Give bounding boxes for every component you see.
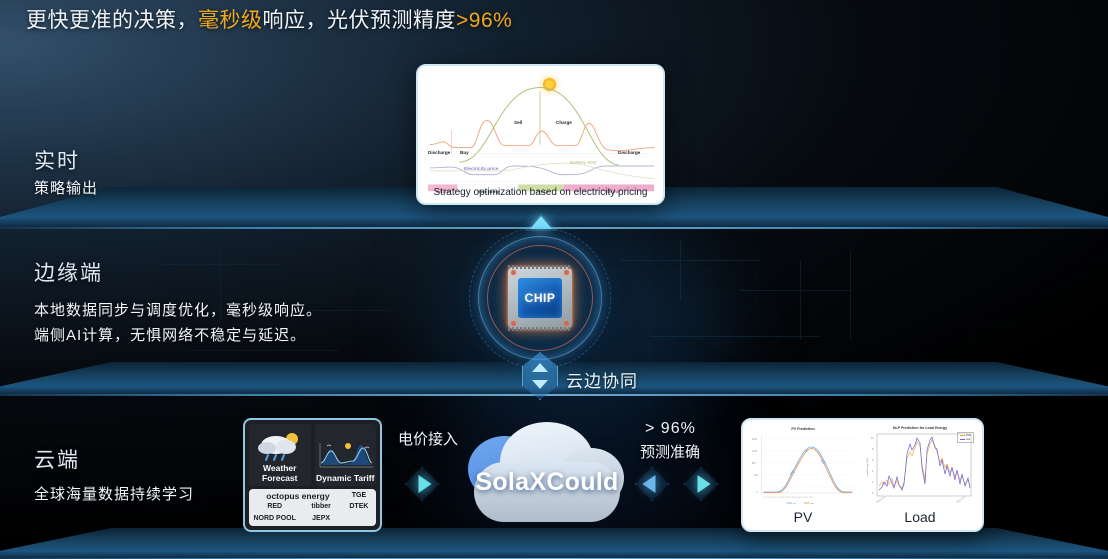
load-chart-name: Load [863, 509, 977, 525]
svg-text:0: 0 [872, 492, 874, 495]
edge-chip-graphic[interactable]: CHIP [468, 233, 612, 363]
svg-text:2023-06-07: 2023-06-07 [956, 496, 966, 504]
section-title: 实时 [34, 148, 98, 176]
logo-dtek: DTEK [349, 503, 368, 511]
pv-prediction-chart: PV Prediction 14001200800 4000 [748, 425, 858, 525]
slide-root: 更快更准的决策，毫秒级响应，光伏预测精度>96% 实时 策略输出 边缘端 本地数… [0, 0, 1108, 559]
accuracy-label: 预测准确 [640, 441, 700, 462]
tariff-curve-icon [315, 439, 375, 473]
logo-jepx: JEPX [312, 515, 330, 523]
chart-label-discharge-1: Discharge [428, 150, 450, 155]
svg-text:6: 6 [872, 459, 874, 462]
svg-text:1400: 1400 [752, 439, 758, 441]
circuit-decoration [620, 240, 920, 380]
dynamic-tariff-label: Dynamic Tariff [316, 473, 374, 483]
chart-label-charge: Charge [556, 120, 572, 125]
section-title: 边缘端 [34, 260, 322, 288]
svg-text:2023-06-01: 2023-06-01 [876, 496, 886, 504]
chip-die: CHIP [518, 278, 562, 318]
svg-text:400: 400 [754, 475, 759, 477]
logo-red: RED [267, 503, 282, 511]
load-prediction-chart: NLP Prediction for Load Energy 1086 420 … [863, 425, 977, 525]
section-label-edge: 边缘端 本地数据同步与调度优化，毫秒级响应。 端侧AI计算，无惧网络不稳定与延迟… [34, 260, 322, 348]
cloud-edge-sync[interactable]: 云边协同 [522, 363, 742, 395]
logo-tibber: tibber [311, 503, 330, 511]
dynamic-tariff-box[interactable]: Dynamic Tariff [315, 424, 377, 486]
flow-arrow-right-2[interactable] [684, 467, 718, 501]
data-sources-panel[interactable]: Weather Forecast Dynamic Tariff octopus … [243, 418, 382, 532]
divider-plane-bottom [0, 528, 1108, 559]
chart-label-discharge-2: Discharge [618, 150, 640, 155]
data-source-logos: octopus energy TGE RED tibber DTEK NORD … [249, 489, 376, 526]
section-desc-line2: 端侧AI计算，无惧网络不稳定与延迟。 [34, 323, 322, 348]
section-desc: 全球海量数据持续学习 [34, 482, 194, 507]
page-title: 更快更准的决策，毫秒级响应，光伏预测精度>96% [26, 6, 512, 36]
prediction-card[interactable]: PV Prediction 14001200800 4000 [741, 418, 984, 532]
headline-part2: 响应，光伏预测精度 [263, 9, 457, 32]
logo-tge: TGE [352, 492, 366, 500]
svg-text:1200: 1200 [752, 451, 758, 453]
headline-part1: 更快更准的决策， [26, 9, 198, 32]
flow-arrow-left[interactable] [635, 467, 669, 501]
strategy-chart [422, 70, 659, 199]
cloud-graphic[interactable]: SolaXCould [466, 418, 628, 528]
headline-highlight: 毫秒级 [198, 9, 263, 32]
section-label-realtime: 实时 策略输出 [34, 148, 98, 201]
svg-text:0: 0 [757, 492, 759, 494]
section-label-cloud: 云端 全球海量数据持续学习 [34, 447, 194, 507]
strategy-card-caption: Strategy optimization based on electrici… [422, 187, 659, 198]
legend-pred: pred [966, 434, 971, 437]
legend-real: real [966, 438, 970, 441]
chart-label-battery-soc: Battery SOC [570, 160, 597, 165]
svg-text:800: 800 [752, 463, 757, 465]
svg-text:2: 2 [872, 481, 874, 484]
svg-text:pv: pv [793, 503, 796, 505]
cloud-name: SolaXCould [466, 468, 628, 497]
section-desc: 策略输出 [34, 176, 98, 201]
flow-arrow-right-1[interactable] [405, 467, 439, 501]
weather-forecast-box[interactable]: Weather Forecast [249, 424, 311, 486]
electricity-price-input-label: 电价接入 [398, 428, 458, 449]
svg-text:10: 10 [871, 437, 874, 440]
weather-forecast-label: Weather Forecast [249, 463, 311, 483]
logo-nord-pool: NORD POOL [254, 515, 296, 523]
chart-label-buy: Buy [460, 150, 469, 155]
chip-package: CHIP [508, 267, 572, 329]
svg-text:1 3 5 7 9 11 13 15 17 19 21 23: 1 3 5 7 9 11 13 15 17 19 21 23 25 27 29 … [763, 497, 813, 499]
svg-text:8: 8 [872, 448, 874, 451]
section-desc-line1: 本地数据同步与调度优化，毫秒级响应。 [34, 298, 322, 323]
headline-accent: >96% [456, 9, 512, 32]
sync-label: 云边协同 [566, 367, 638, 392]
load-chart-legend: pred real [957, 432, 974, 443]
pv-chart-name: PV [748, 509, 858, 525]
sync-diamond-icon [522, 352, 558, 400]
weather-cloud-rain-icon [254, 429, 306, 463]
logo-octopus-energy: octopus energy [266, 492, 329, 500]
svg-text:Load Energy (Wh): Load Energy (Wh) [866, 458, 869, 476]
strategy-card[interactable]: Discharge Buy Sell Charge Discharge Elec… [416, 64, 665, 205]
chip-label: CHIP [525, 291, 556, 305]
accuracy-value: > 96% [645, 420, 696, 438]
section-title: 云端 [34, 447, 194, 475]
svg-text:pre: pre [811, 502, 815, 505]
chart-label-sell: Sell [514, 120, 522, 125]
svg-text:4: 4 [872, 470, 874, 473]
chart-label-electricity-price: Electricity price [464, 166, 498, 171]
